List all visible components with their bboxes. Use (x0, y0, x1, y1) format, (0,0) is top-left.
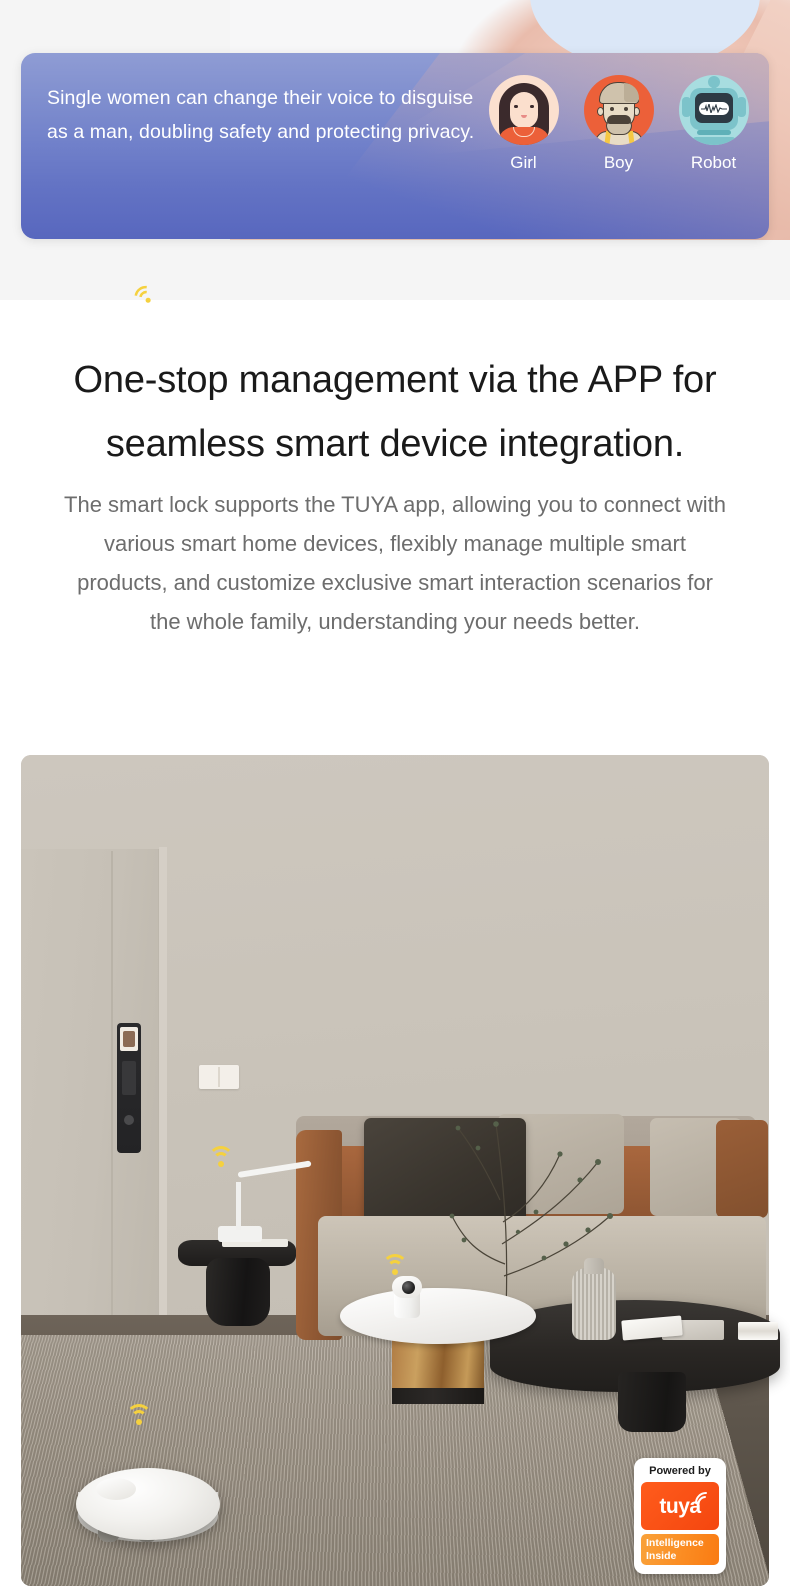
page-description: The smart lock supports the TUYA app, al… (0, 485, 790, 641)
boy-avatar-label: Boy (581, 153, 656, 173)
door-seam (111, 851, 113, 1351)
voice-disguise-banner: Single women can change their voice to d… (21, 53, 769, 239)
robot-avatar-label: Robot (676, 153, 751, 173)
coffee-table-base (618, 1372, 686, 1432)
robot-vacuum-sensor (96, 1478, 136, 1500)
sofa-cushion-brown (716, 1120, 768, 1218)
robot-vacuum (76, 1468, 220, 1540)
banner-text: Single women can change their voice to d… (47, 81, 477, 149)
marble-table-top (340, 1288, 536, 1344)
smart-desk-lamp-post (236, 1182, 241, 1230)
voice-avatar-list: Girl Boy (486, 75, 751, 173)
page-title: One-stop management via the APP for seam… (0, 348, 790, 476)
robot-avatar-icon (679, 75, 749, 145)
waveform-icon (701, 104, 727, 113)
smart-security-camera-lens (402, 1281, 415, 1294)
tagline-line-2: Inside (646, 1550, 714, 1563)
girl-avatar-label: Girl (486, 153, 561, 173)
boy-avatar-icon (584, 75, 654, 145)
tuya-logo: tuya (641, 1482, 719, 1530)
vase-neck (584, 1258, 604, 1274)
powered-by-label: Powered by (641, 1465, 719, 1478)
intelligence-inside-label: Intelligence Inside (641, 1534, 719, 1565)
door-frame (159, 847, 167, 1355)
wall-light-switch (199, 1065, 239, 1089)
smart-door-lock (117, 1023, 141, 1153)
tagline-line-1: Intelligence (646, 1537, 714, 1550)
powered-by-tuya-badge: Powered by tuya Intelligence Inside (634, 1458, 726, 1574)
voice-option-girl[interactable]: Girl (486, 75, 561, 173)
girl-avatar-icon (489, 75, 559, 145)
wifi-signal-icon (694, 1491, 710, 1505)
book-stack (738, 1322, 778, 1340)
decorative-plant-branches (448, 1104, 668, 1314)
voice-option-robot[interactable]: Robot (676, 75, 751, 173)
ribbed-vase (572, 1268, 616, 1340)
voice-option-boy[interactable]: Boy (581, 75, 656, 173)
side-table-base (206, 1258, 270, 1326)
